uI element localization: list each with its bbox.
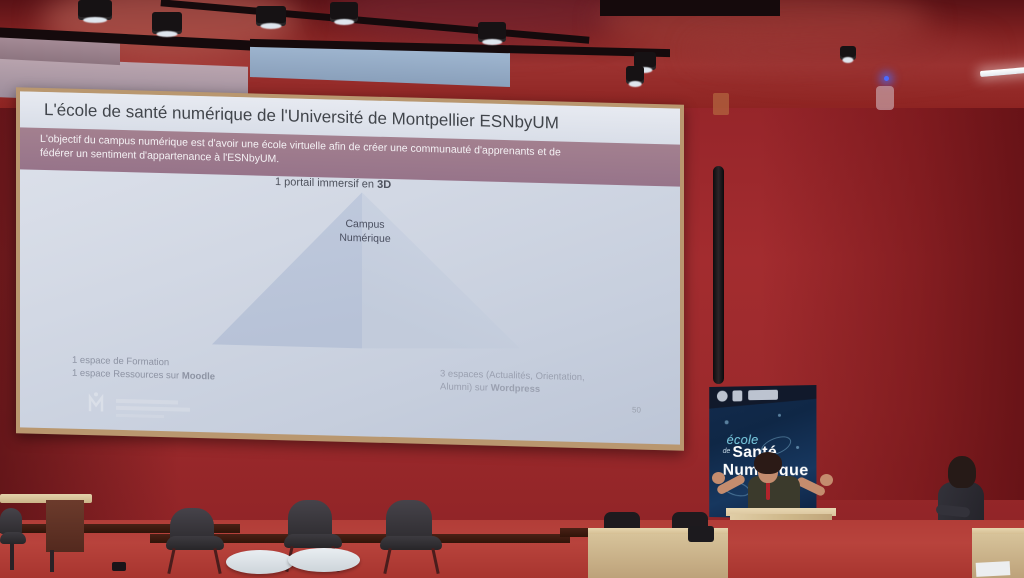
university-logo-mark-icon [82, 389, 242, 427]
desk-leg [50, 550, 54, 572]
left-note: 1 espace de Formation 1 espace Ressource… [72, 355, 302, 387]
ceiling-beam [600, 0, 780, 16]
slide-number: 50 [632, 405, 641, 414]
coffee-table [288, 548, 360, 572]
wall-speaker-column [713, 166, 724, 384]
ceiling-spotlight [330, 2, 358, 22]
floor-device [112, 562, 126, 571]
banner-line-2-small: de [723, 448, 731, 455]
pyramid-graphic: Campus Numérique [172, 187, 528, 358]
right-note-strong: Wordpress [491, 382, 540, 394]
attendee-hair [948, 456, 976, 488]
desk-chair-seat [0, 532, 26, 544]
slide-caption: 1 portail immersif en 3D [275, 176, 391, 191]
speaker-hand-left [712, 472, 725, 484]
slide-caption-prefix: 1 portail immersif en [275, 176, 377, 191]
left-note-prefix: 1 espace Ressources sur [72, 368, 182, 382]
ceiling-spotlight [478, 22, 506, 42]
speaker-hair [754, 452, 782, 474]
wall-box [713, 93, 729, 115]
banner-logo-icon [748, 390, 778, 400]
side-desk-panel [46, 500, 84, 552]
desk-chair-leg [10, 544, 14, 570]
dot-decoration [725, 420, 729, 424]
speaker-hand-right [820, 474, 833, 486]
pyramid-svg [172, 187, 528, 358]
slide-footer-logo [82, 389, 242, 427]
conference-room-photo: L'école de santé numérique de l'Universi… [0, 0, 1024, 578]
ceiling-spotlight [152, 12, 182, 34]
paper-sheet [976, 561, 1011, 577]
projected-slide: L'école de santé numérique de l'Universi… [20, 91, 680, 444]
coffee-table [226, 550, 294, 574]
slide-caption-strong: 3D [377, 179, 391, 191]
dot-decoration [796, 446, 799, 449]
ceiling-spotlight [78, 0, 112, 20]
camera-equipment [688, 526, 714, 542]
blue-led-indicator [884, 76, 889, 81]
pyramid-label: Campus Numérique [290, 216, 440, 247]
wall-sensor-plate [876, 86, 894, 110]
desk-chair-back [0, 508, 22, 534]
right-note-prefix: Alumni) sur [440, 381, 491, 393]
banner-logo-icon [732, 390, 742, 401]
ceiling-spotlight [840, 46, 856, 60]
right-note: 3 espaces (Actualités, Orientation, Alum… [440, 368, 660, 399]
ceiling-spotlight [626, 66, 644, 84]
dot-decoration [778, 414, 781, 417]
ceiling-spotlight [256, 6, 286, 26]
left-note-strong: Moodle [182, 370, 215, 382]
